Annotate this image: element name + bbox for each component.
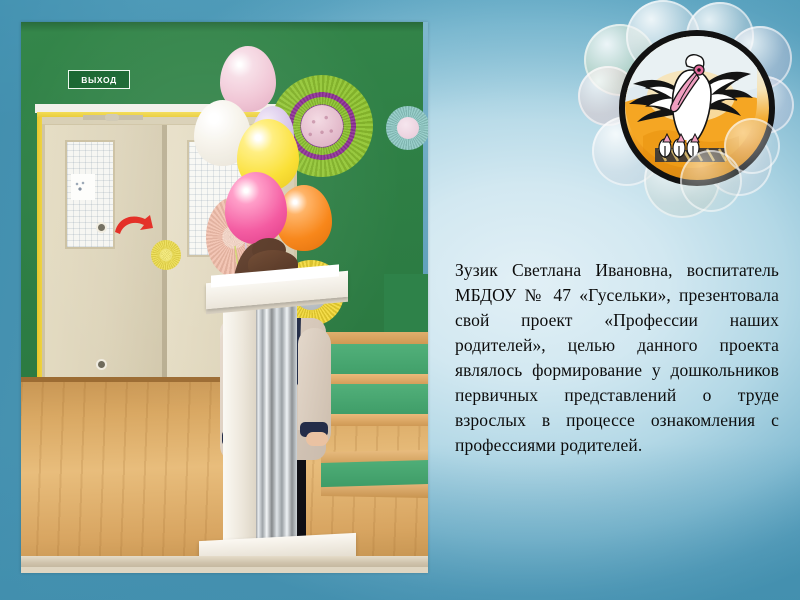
photo-presenter-at-podium: ВЫХОД xyxy=(21,22,428,573)
photo-lighting-overlay xyxy=(21,22,428,573)
pelican-emblem-logo xyxy=(578,0,800,232)
slide-paragraph: Зузик Светлана Ивановна, воспитатель МБД… xyxy=(455,258,779,458)
bubble-12 xyxy=(680,150,742,212)
presentation-slide: ВЫХОД xyxy=(0,0,800,600)
